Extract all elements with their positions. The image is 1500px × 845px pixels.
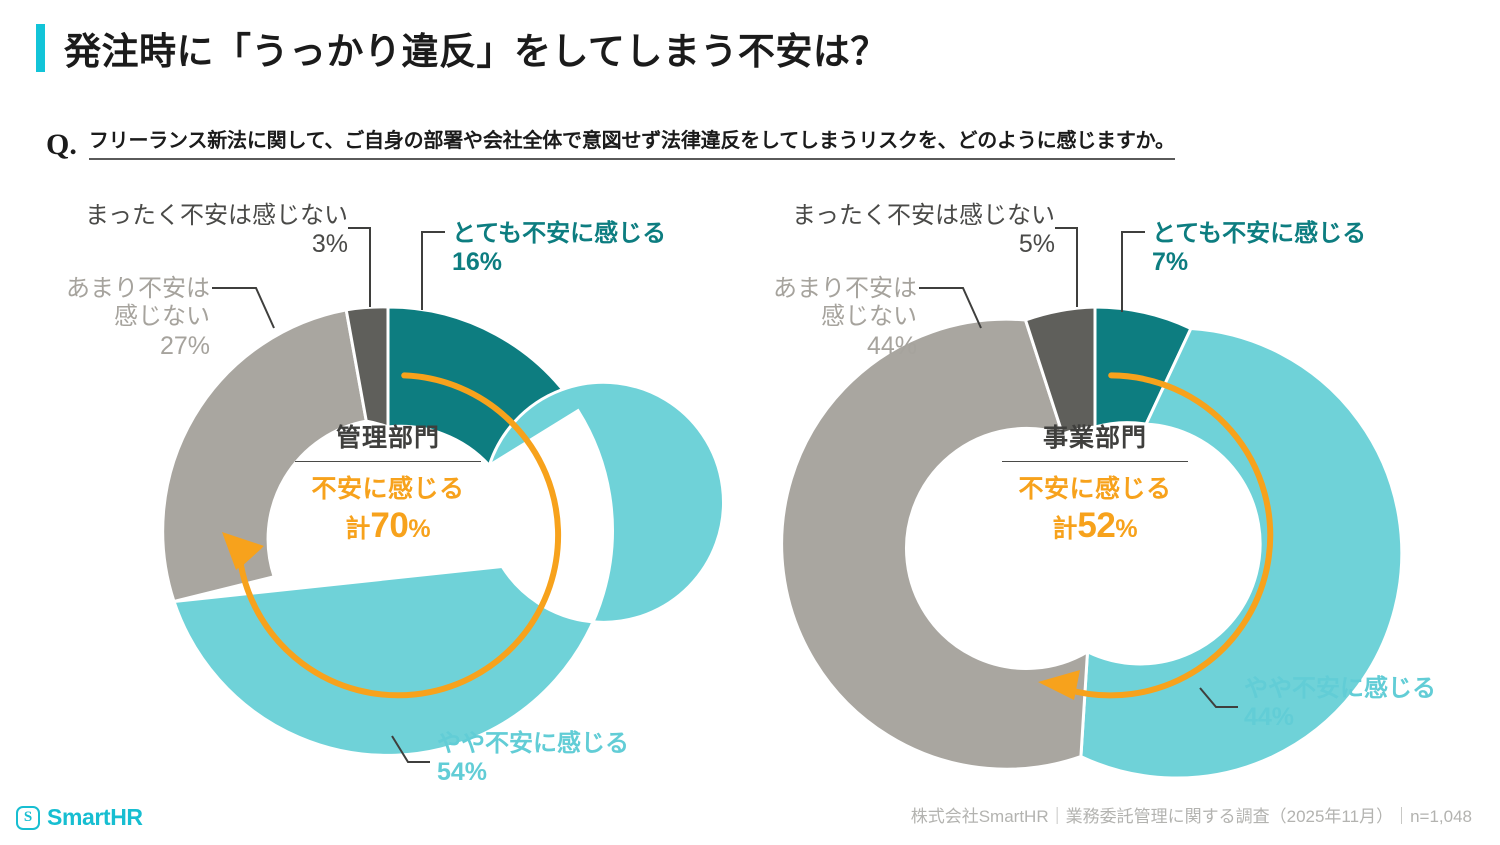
label-very-anxious-kanri: とても不安に感じる 16% — [452, 220, 666, 278]
label-somewhat-anxious-jigyo: やや不安に感じる 44% — [1244, 675, 1436, 733]
label-very-anxious-jigyo-pct: 7% — [1152, 248, 1366, 278]
center-total-value-kanri: 70 — [370, 506, 408, 545]
label-not-much-anxious-kanri-pct: 27% — [10, 332, 210, 362]
label-somewhat-anxious-jigyo-text: やや不安に感じる — [1244, 675, 1436, 703]
smarthr-logo-text: SmartHR — [47, 804, 143, 831]
label-not-much-anxious-jigyo: あまり不安は 感じない 44% — [717, 275, 917, 361]
page-title: 発注時に「うっかり違反」をしてしまう不安は？ — [36, 22, 888, 74]
label-not-anxious-jigyo: まったく不安は感じない 5% — [725, 202, 1055, 260]
label-somewhat-anxious-kanri-text: やや不安に感じる — [437, 730, 629, 758]
center-block-jigyo: 事業部門 不安に感じる 計52% — [985, 418, 1205, 546]
center-caption-kanri: 不安に感じる — [278, 473, 498, 506]
smarthr-logo-mark-letter: S — [24, 810, 32, 825]
label-not-anxious-kanri: まったく不安は感じない 3% — [18, 202, 348, 260]
center-divider-kanri — [295, 461, 481, 462]
label-not-anxious-jigyo-pct: 5% — [725, 230, 1055, 260]
slide-root: 発注時に「うっかり違反」をしてしまう不安は？ Q. フリーランス新法に関して、ご… — [0, 0, 1500, 845]
title-accent-bar — [36, 24, 45, 72]
title-text: 発注時に「うっかり違反」をしてしまう不安は？ — [64, 21, 888, 75]
label-somewhat-anxious-jigyo-pct: 44% — [1244, 703, 1436, 733]
label-not-much-anxious-kanri-line1: あまり不安は — [10, 275, 210, 303]
charts-container: まったく不安は感じない 3% あまり不安は 感じない 27% とても不安に感じる… — [0, 170, 1500, 780]
question-block: Q. フリーランス新法に関して、ご自身の部署や会社全体で意図せず法律違反をしてし… — [46, 124, 1175, 160]
label-not-much-anxious-jigyo-line2: 感じない — [717, 303, 917, 331]
smarthr-logo: S SmartHR — [16, 804, 143, 831]
label-somewhat-anxious-kanri-pct: 54% — [437, 758, 629, 788]
label-not-much-anxious-kanri-line2: 感じない — [10, 303, 210, 331]
center-total-unit-kanri: % — [408, 515, 430, 543]
center-total-unit-jigyo: % — [1115, 515, 1137, 543]
label-not-much-anxious-jigyo-line1: あまり不安は — [717, 275, 917, 303]
label-very-anxious-jigyo: とても不安に感じる 7% — [1152, 220, 1366, 278]
center-block-kanri: 管理部門 不安に感じる 計70% — [278, 418, 498, 546]
center-divider-jigyo — [1002, 461, 1188, 462]
center-caption-jigyo: 不安に感じる — [985, 473, 1205, 506]
smarthr-logo-icon: S — [16, 806, 40, 830]
label-not-anxious-kanri-pct: 3% — [18, 230, 348, 260]
center-total-jigyo: 計52% — [985, 506, 1205, 546]
footer-source-note: 株式会社SmartHR｜業務委託管理に関する調査（2025年11月）｜n=1,0… — [911, 802, 1472, 827]
question-text: フリーランス新法に関して、ご自身の部署や会社全体で意図せず法律違反をしてしまうリ… — [89, 124, 1175, 160]
label-not-much-anxious-jigyo-pct: 44% — [717, 332, 917, 362]
center-total-kanri: 計70% — [278, 506, 498, 546]
center-dept-kanri: 管理部門 — [278, 418, 498, 461]
label-somewhat-anxious-kanri: やや不安に感じる 54% — [437, 730, 629, 788]
label-not-much-anxious-kanri: あまり不安は 感じない 27% — [10, 275, 210, 361]
center-total-value-jigyo: 52 — [1077, 506, 1115, 545]
center-total-prefix-jigyo: 計 — [1052, 515, 1077, 543]
label-not-anxious-kanri-text: まったく不安は感じない — [18, 202, 348, 230]
label-not-anxious-jigyo-text: まったく不安は感じない — [725, 202, 1055, 230]
label-very-anxious-kanri-pct: 16% — [452, 248, 666, 278]
center-total-prefix-kanri: 計 — [345, 515, 370, 543]
question-marker: Q. — [46, 130, 77, 160]
center-dept-jigyo: 事業部門 — [985, 418, 1205, 461]
label-very-anxious-kanri-text: とても不安に感じる — [452, 220, 666, 248]
label-very-anxious-jigyo-text: とても不安に感じる — [1152, 220, 1366, 248]
